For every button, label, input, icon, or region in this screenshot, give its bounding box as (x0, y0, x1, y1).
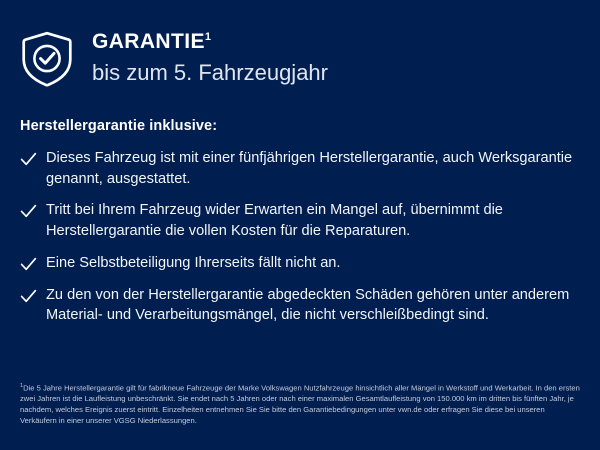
list-item-label: Tritt bei Ihrem Fahrzeug wider Erwarten … (46, 200, 576, 241)
list-item-label: Zu den von der Herstellergarantie abgede… (46, 285, 576, 326)
benefits-list: Dieses Fahrzeug ist mit einer fünfjährig… (20, 148, 576, 326)
section-heading: Herstellergarantie inklusive: (20, 118, 576, 134)
check-icon (20, 151, 37, 168)
list-item-label: Eine Selbstbeteiligung Ihrerseits fällt … (46, 253, 340, 274)
body-content: Herstellergarantie inklusive: Dieses Fah… (20, 118, 576, 337)
shield-check-icon (20, 30, 74, 88)
list-item: Dieses Fahrzeug ist mit einer fünfjährig… (20, 148, 576, 189)
page-title-label: GARANTIE (92, 30, 205, 53)
warranty-info-panel: GARANTIE1 bis zum 5. Fahrzeugjahr Herste… (0, 0, 600, 450)
check-icon (20, 256, 37, 273)
check-icon (20, 203, 37, 220)
footnote: 1Die 5 Jahre Herstellergarantie gilt für… (20, 383, 582, 427)
footnote-text: Die 5 Jahre Herstellergarantie gilt für … (20, 384, 580, 425)
list-item: Eine Selbstbeteiligung Ihrerseits fällt … (20, 253, 576, 274)
list-item-label: Dieses Fahrzeug ist mit einer fünfjährig… (46, 148, 576, 189)
list-item: Zu den von der Herstellergarantie abgede… (20, 285, 576, 326)
header: GARANTIE1 bis zum 5. Fahrzeugjahr (20, 28, 328, 88)
list-item: Tritt bei Ihrem Fahrzeug wider Erwarten … (20, 200, 576, 241)
page-title-superscript: 1 (205, 31, 212, 43)
page-title: GARANTIE1 (92, 30, 328, 53)
header-text: GARANTIE1 bis zum 5. Fahrzeugjahr (92, 28, 328, 87)
check-icon (20, 288, 37, 305)
page-subtitle: bis zum 5. Fahrzeugjahr (92, 59, 328, 87)
